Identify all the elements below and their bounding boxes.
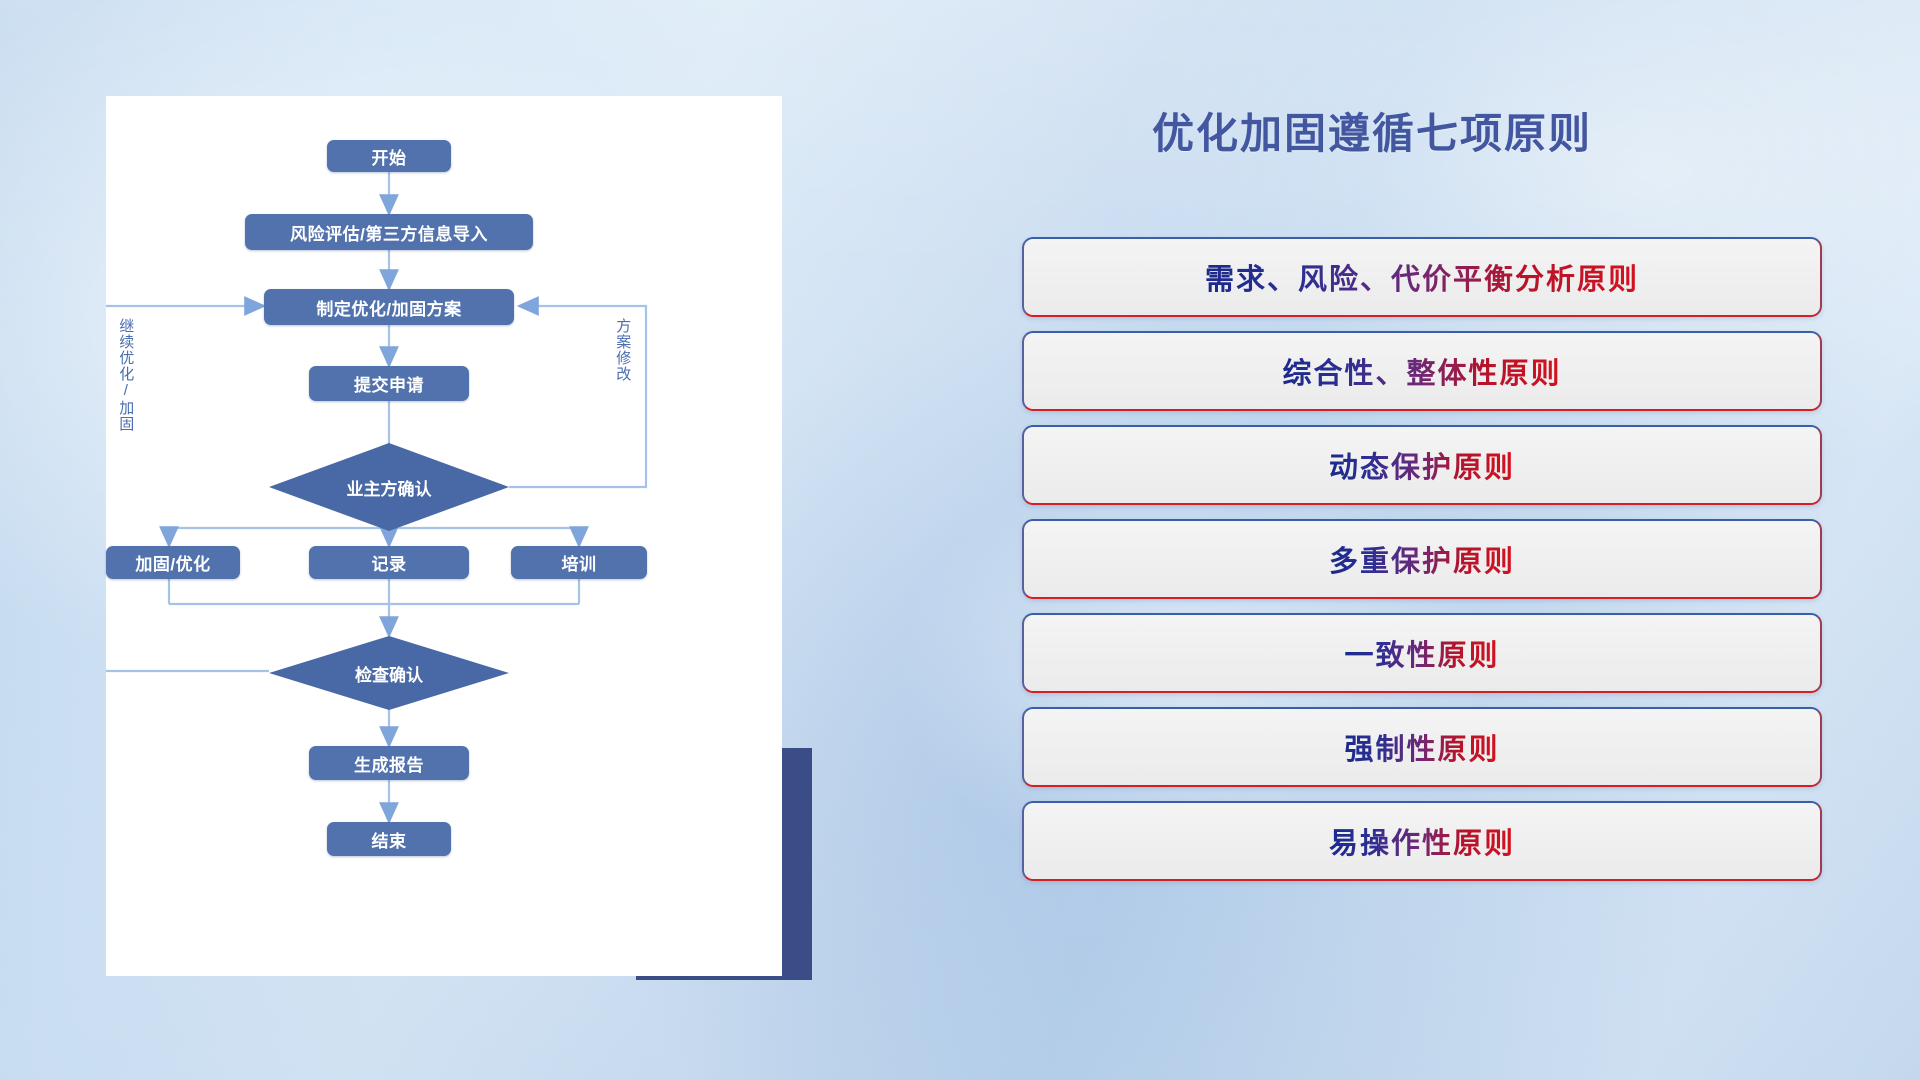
flowchart-card: 开始 风险评估/第三方信息导入 制定优化/加固方案 提交申请 业主方确认 加固/… xyxy=(106,96,782,976)
flow-node-submit[interactable]: 提交申请 xyxy=(309,366,469,401)
flow-node-training[interactable]: 培训 xyxy=(511,546,647,579)
flow-node-reinforce[interactable]: 加固/优化 xyxy=(106,546,240,579)
principle-label: 易操作性原则 xyxy=(1329,820,1515,862)
principle-card-7[interactable]: 易操作性原则 xyxy=(1022,801,1822,881)
principle-card-3[interactable]: 动态保护原则 xyxy=(1022,425,1822,505)
flow-decision-owner-confirm[interactable]: 业主方确认 xyxy=(269,443,509,531)
flow-node-end[interactable]: 结束 xyxy=(327,822,451,856)
flow-node-start[interactable]: 开始 xyxy=(327,140,451,172)
flow-node-record[interactable]: 记录 xyxy=(309,546,469,579)
principle-label: 强制性原则 xyxy=(1344,726,1499,768)
principle-label: 动态保护原则 xyxy=(1329,444,1515,486)
flow-edge-label-right-loop: 方案修改 xyxy=(615,318,630,418)
principle-card-4[interactable]: 多重保护原则 xyxy=(1022,519,1822,599)
principle-label: 需求、风险、代价平衡分析原则 xyxy=(1205,256,1639,298)
principle-label: 综合性、整体性原则 xyxy=(1282,350,1561,392)
principles-list: 需求、风险、代价平衡分析原则 综合性、整体性原则 动态保护原则 多重保护原则 一… xyxy=(1022,237,1822,895)
flow-decision-inspect-confirm[interactable]: 检查确认 xyxy=(269,636,509,710)
principle-label: 一致性原则 xyxy=(1344,632,1499,674)
principle-card-6[interactable]: 强制性原则 xyxy=(1022,707,1822,787)
flow-node-report[interactable]: 生成报告 xyxy=(309,746,469,780)
principle-card-5[interactable]: 一致性原则 xyxy=(1022,613,1822,693)
principle-card-1[interactable]: 需求、风险、代价平衡分析原则 xyxy=(1022,237,1822,317)
flow-decision-inspect-confirm-label: 检查确认 xyxy=(355,661,423,686)
principle-card-2[interactable]: 综合性、整体性原则 xyxy=(1022,331,1822,411)
principle-label: 多重保护原则 xyxy=(1329,538,1515,580)
flow-decision-owner-confirm-label: 业主方确认 xyxy=(347,475,432,500)
flow-node-risk-assessment[interactable]: 风险评估/第三方信息导入 xyxy=(245,214,533,250)
page-title: 优化加固遵循七项原则 xyxy=(1152,100,1592,161)
flow-node-plan[interactable]: 制定优化/加固方案 xyxy=(264,289,514,325)
flow-edge-label-left-loop: 继续优化/加固 xyxy=(118,318,133,458)
